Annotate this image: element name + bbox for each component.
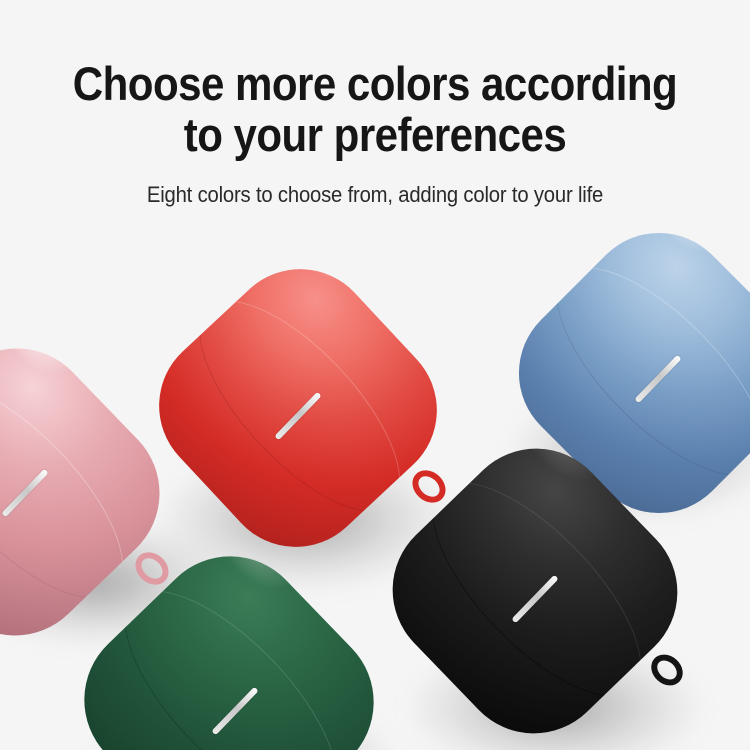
case-green-lid-seam <box>92 559 369 750</box>
case-red-carabiner[interactable] <box>406 464 452 510</box>
page-title: Choose more colors according to your pre… <box>39 0 710 160</box>
copy-block: Choose more colors according to your pre… <box>0 0 750 208</box>
case-black-carabiner[interactable] <box>645 648 689 692</box>
case-red[interactable] <box>128 238 467 577</box>
case-red-sheen <box>128 238 467 577</box>
page-subtitle: Eight colors to choose from, adding colo… <box>38 160 713 208</box>
case-red-lid-seam <box>168 270 432 542</box>
product-banner: Choose more colors according to your pre… <box>0 0 750 750</box>
case-red-body <box>128 238 467 577</box>
